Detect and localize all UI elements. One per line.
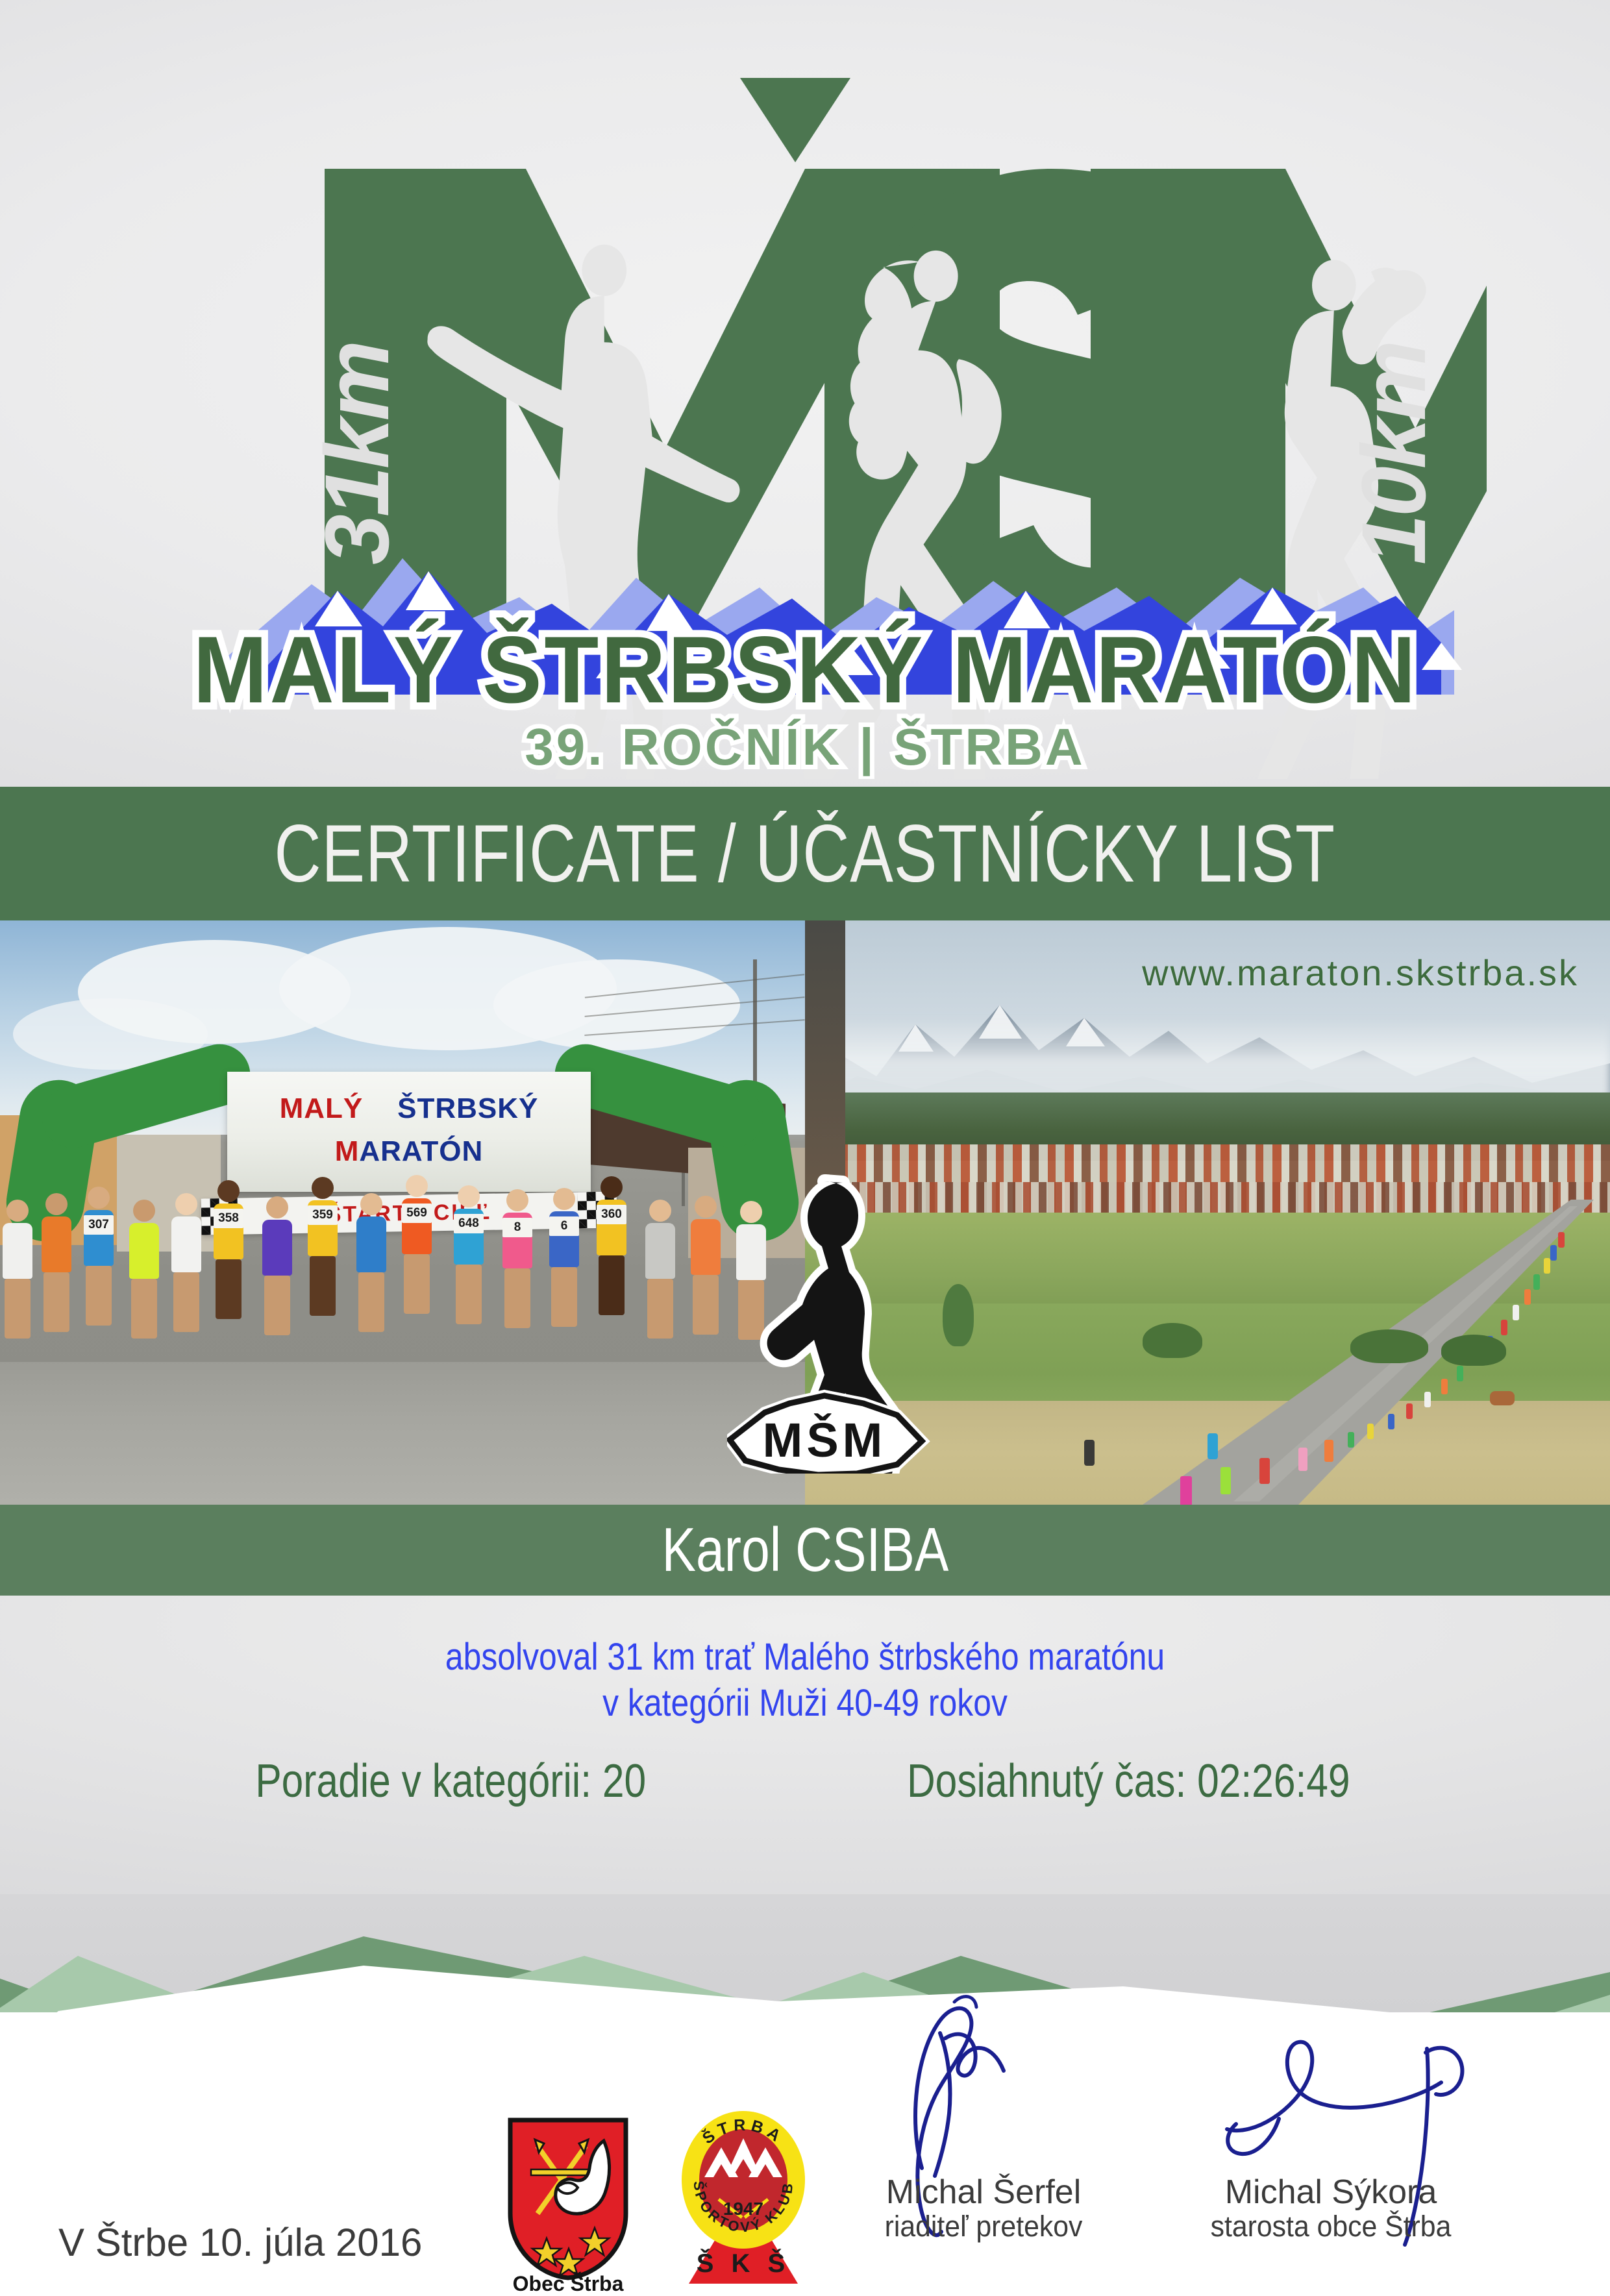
sks-year: 1947 (723, 2199, 763, 2219)
runner-figure: 648 (451, 1185, 486, 1394)
gate-banner-line2: MARATÓN (227, 1135, 591, 1168)
sks-bottom-text: Š K Š (697, 2248, 790, 2278)
svg-text:10km: 10km (1343, 343, 1444, 565)
spectator (1084, 1440, 1095, 1466)
participant-name: Karol CSIBA (662, 1519, 948, 1581)
signature-role: starosta obce Štrba (1170, 2210, 1491, 2243)
caron-accent (740, 78, 850, 162)
runner-bib: 569 (402, 1204, 432, 1223)
cow (1490, 1391, 1515, 1405)
runner-bib: 307 (84, 1215, 114, 1235)
gate-arm-left (34, 1037, 257, 1155)
msm-logo: 31km 10km MALÝ ŠTRBSKÝ MARAT (123, 39, 1487, 779)
runner-figure: 6 (547, 1188, 582, 1394)
right-distance-label: 10km (1343, 343, 1444, 565)
runner-crowd: 307 358 359 569 (0, 1180, 805, 1394)
header-logo-section: 31km 10km MALÝ ŠTRBSKÝ MARAT (0, 0, 1610, 787)
runner-bib: 8 (502, 1218, 532, 1237)
signature-block-mayor: Michal Sýkora starosta obce Štrba (1162, 2175, 1500, 2242)
event-name: MALÝ ŠTRBSKÝ MARATÓN (193, 617, 1418, 723)
certificate-body: absolvoval 31 km trať Malého štrbského m… (0, 1596, 1610, 1894)
signature-name: Michal Sýkora (1162, 2175, 1500, 2210)
signature-name: Michal Šerfel (815, 2175, 1152, 2210)
runner-figure (688, 1196, 723, 1394)
runner-bib: 359 (308, 1205, 338, 1225)
runner-figure (0, 1200, 35, 1394)
msm-overlay-text: MŠM (763, 1413, 887, 1467)
runner-figure: 358 (211, 1180, 246, 1394)
obec-strba-label: Obec Štrba (503, 2272, 633, 2296)
runner-figure (643, 1200, 678, 1394)
runner-figure (260, 1196, 295, 1394)
runner-figure (354, 1193, 389, 1394)
results-row: Poradie v kategórii: 20 Dosiahnutý čas: … (0, 1758, 1610, 1805)
msm-runner-overlay: MŠM (727, 1162, 935, 1474)
category-rank: Poradie v kategórii: 20 (255, 1758, 646, 1805)
tree (1350, 1329, 1428, 1363)
runner-bib: 6 (549, 1216, 579, 1236)
certificate-date: V Štrbe 10. júla 2016 (58, 2220, 422, 2265)
event-edition: 39. ROČNÍK | ŠTRBA (525, 718, 1085, 776)
gate-banner-line1: MALÝ ŠTRBSKÝ (227, 1092, 591, 1125)
tree (1143, 1323, 1202, 1358)
svg-text:31km: 31km (306, 343, 408, 565)
runner-bib: 360 (597, 1205, 626, 1224)
spectator (1207, 1433, 1218, 1459)
runner-bib: 648 (454, 1214, 484, 1233)
runner-figure: 359 (305, 1177, 340, 1394)
runner-figure: 569 (399, 1175, 434, 1394)
msm-runner-overlay-svg: MŠM (727, 1162, 935, 1474)
runner-figure: 8 (500, 1189, 535, 1394)
footer: V Štrbe 10. júla 2016 Obec Štrba (0, 2012, 1610, 2277)
obec-strba-crest (506, 2116, 630, 2282)
tree (943, 1284, 974, 1346)
runner-figure: 307 (81, 1187, 116, 1394)
signature-role: riaditeľ pretekov (823, 2210, 1144, 2243)
finish-time: Dosiahnutý čas: 02:26:49 (907, 1758, 1350, 1805)
runner-figure (39, 1193, 74, 1394)
tree (1441, 1335, 1506, 1366)
msm-logo-svg: 31km 10km MALÝ ŠTRBSKÝ MARAT (123, 39, 1487, 779)
runner-figure: 360 (594, 1176, 629, 1394)
runner-bib: 358 (214, 1209, 243, 1228)
runner-figure (127, 1200, 162, 1394)
sks-strba-emblem: ŠTRBA ŠPORTOVÝ KLUB 1947 Š K Š (678, 2110, 808, 2285)
sks-strba-emblem-svg: ŠTRBA ŠPORTOVÝ KLUB 1947 Š K Š (678, 2110, 808, 2285)
signature-block-director: Michal Šerfel riaditeľ pretekov (815, 2175, 1152, 2242)
certificate-title-bar: CERTIFICATE / ÚČASTNÍCKY LIST (0, 787, 1610, 920)
runner-figure (169, 1193, 204, 1394)
achievement-line-2: v kategórii Muži 40-49 rokov (113, 1681, 1498, 1727)
participant-name-bar: Karol CSIBA (0, 1505, 1610, 1596)
obec-strba-crest-svg (506, 2116, 630, 2282)
achievement-text: absolvoval 31 km trať Malého štrbského m… (0, 1635, 1610, 1727)
achievement-line-1: absolvoval 31 km trať Malého štrbského m… (113, 1635, 1498, 1681)
website-url[interactable]: www.maraton.skstrba.sk (1142, 952, 1579, 994)
photo-start-line: MALÝ ŠTRBSKÝ MARATÓN ŠTART - CIEĽ (0, 920, 805, 1505)
gate-banner: MALÝ ŠTRBSKÝ MARATÓN (227, 1072, 591, 1192)
certificate-title: CERTIFICATE / ÚČASTNÍCKY LIST (275, 813, 1336, 895)
left-distance-label: 31km (306, 343, 408, 565)
